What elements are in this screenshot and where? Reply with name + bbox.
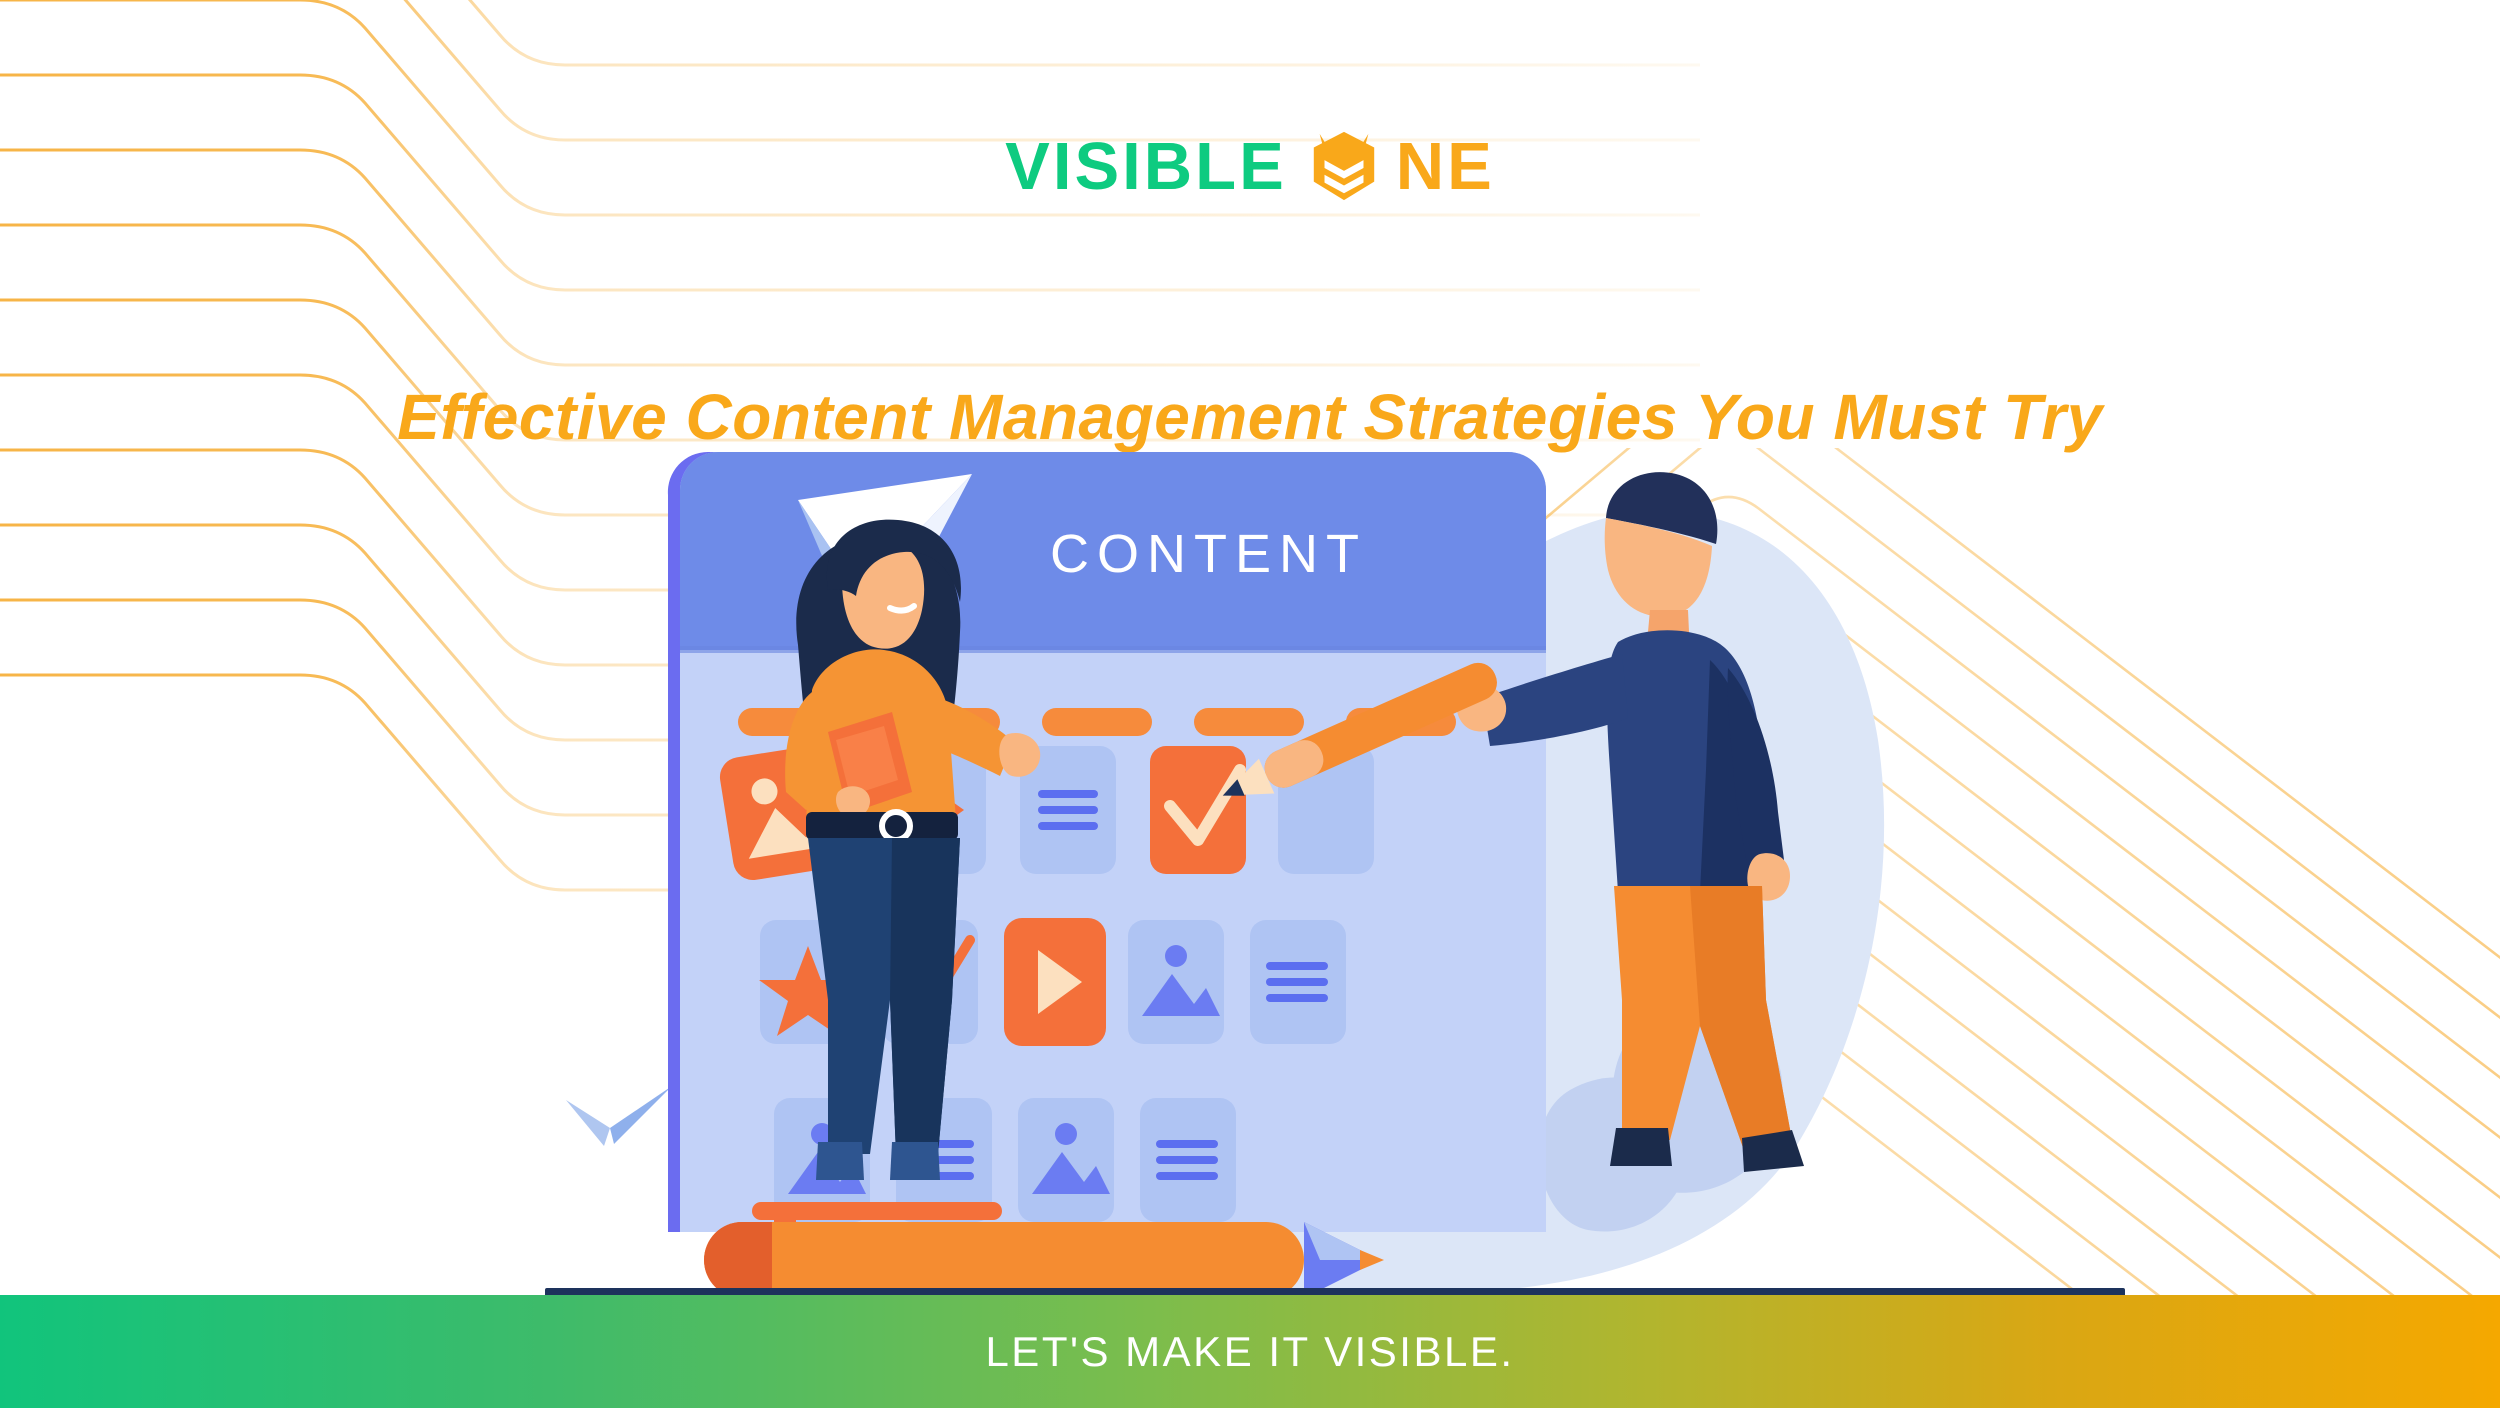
logo-text-visible: VISIBLE bbox=[1005, 133, 1287, 200]
grid-cell-text bbox=[1140, 1098, 1236, 1222]
grid-cell-image bbox=[1018, 1098, 1114, 1222]
bee-hexagon-icon bbox=[1307, 128, 1381, 204]
grid-cell-play-highlight bbox=[1004, 918, 1106, 1046]
banner-canvas: VISIBLE NE Effective Content Management … bbox=[0, 0, 2500, 1408]
board-title: CONTENT bbox=[1050, 524, 1367, 584]
footer-tagline-bar: LET'S MAKE IT VISIBLE. bbox=[0, 1295, 2500, 1408]
logo-text-one: NE bbox=[1396, 133, 1495, 200]
grid-cell-check-highlight bbox=[1150, 746, 1246, 874]
grid-cell-image bbox=[1128, 920, 1224, 1044]
content-management-calendar-illustration: CONTENT bbox=[560, 440, 2020, 1310]
brand-logo[interactable]: VISIBLE NE bbox=[0, 128, 2500, 204]
footer-tagline: LET'S MAKE IT VISIBLE. bbox=[985, 1328, 1514, 1376]
paper-plane-small-icon bbox=[566, 1086, 672, 1146]
content-board: CONTENT bbox=[668, 452, 1546, 1232]
grid-cell-text bbox=[1250, 920, 1346, 1044]
